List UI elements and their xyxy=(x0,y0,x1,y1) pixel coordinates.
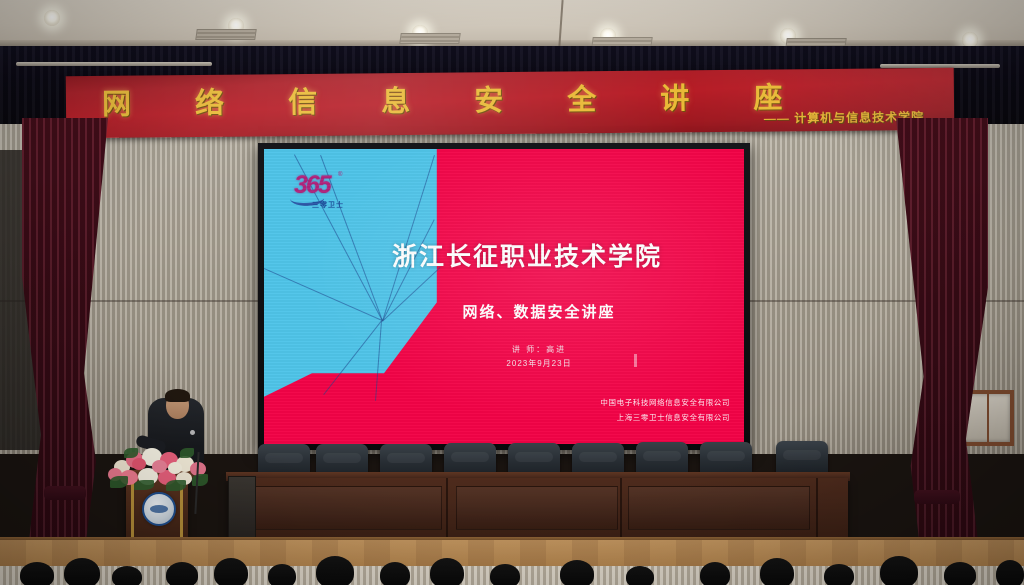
chair xyxy=(636,442,688,476)
flower-leaf xyxy=(166,480,186,491)
audience-head xyxy=(64,558,100,585)
window-mullion xyxy=(987,394,989,442)
slide-subtitle: 网络、数据安全讲座 xyxy=(264,301,744,322)
table-divider xyxy=(816,478,818,540)
table-panel xyxy=(628,486,810,530)
audience-head xyxy=(944,562,976,585)
flower-leaf xyxy=(124,448,138,458)
ceiling-vent xyxy=(399,33,461,44)
flower-leaf xyxy=(110,476,128,488)
head-table xyxy=(228,478,848,540)
presenter-badge xyxy=(190,430,195,435)
table-panel xyxy=(456,486,618,530)
slide-org-line-1: 中国电子科技网络信息安全有限公司 xyxy=(600,397,730,408)
audience-head xyxy=(490,564,520,585)
auditorium-photo: 网 络 信 息 安 全 讲 座 —— 计算机与信息技术学院 365 ® 三零卫士… xyxy=(0,0,1024,585)
floor-speaker-cabinet xyxy=(228,476,256,540)
flower-leaf xyxy=(192,474,208,486)
event-banner: 网 络 信 息 安 全 讲 座 —— 计算机与信息技术学院 xyxy=(66,68,955,139)
slide-speaker-line: 讲 师：高进 xyxy=(264,344,744,355)
screen-light-artifact xyxy=(634,354,637,367)
flower-petal xyxy=(152,460,167,473)
chair xyxy=(776,441,828,475)
curtain-tie-right xyxy=(914,490,960,504)
curtain-rod-left xyxy=(16,62,212,66)
audience-head xyxy=(880,556,918,585)
slide-date-line: 2023年9月23日 xyxy=(264,358,744,369)
presentation-slide: 365 ® 三零卫士 浙江长征职业技术学院 网络、数据安全讲座 讲 师：高进 2… xyxy=(264,149,744,444)
slide-title: 浙江长征职业技术学院 xyxy=(392,237,732,273)
flower-leaf xyxy=(134,480,154,490)
sponsor-logo: 365 ® 三零卫士 xyxy=(286,171,352,215)
banner-title: 网 络 信 息 安 全 讲 座 xyxy=(102,74,811,123)
ceiling-vent xyxy=(195,29,257,40)
logo-registered-icon: ® xyxy=(338,172,342,178)
flower-petal xyxy=(132,458,146,470)
table-divider xyxy=(446,478,448,540)
audience-head xyxy=(20,562,54,585)
audience-head xyxy=(760,558,794,585)
audience-head xyxy=(430,558,464,585)
audience-head xyxy=(268,564,296,585)
led-screen-bezel: 365 ® 三零卫士 浙江长征职业技术学院 网络、数据安全讲座 讲 师：高进 2… xyxy=(258,143,750,450)
audience-head xyxy=(214,558,248,585)
audience-head xyxy=(112,566,142,585)
podium-crest-icon xyxy=(142,492,176,526)
audience-head xyxy=(626,566,654,585)
audience-head xyxy=(824,564,854,585)
chair xyxy=(700,442,752,476)
curtain-tie-left xyxy=(44,486,86,500)
table-divider xyxy=(620,478,622,540)
flower-petal xyxy=(168,462,182,474)
slide-org-line-2: 上海三零卫士信息安全有限公司 xyxy=(617,412,730,423)
logo-text: 三零卫士 xyxy=(312,200,344,210)
ceiling-spotlight xyxy=(44,10,60,26)
audience-head xyxy=(316,556,354,585)
presenter-hair xyxy=(165,389,190,402)
audience-head xyxy=(560,560,594,585)
table-panel xyxy=(240,486,442,530)
audience-head xyxy=(996,560,1024,585)
audience-head xyxy=(700,562,730,585)
audience-head xyxy=(166,562,198,585)
audience-head xyxy=(380,562,410,585)
flower-leaf xyxy=(180,448,194,458)
